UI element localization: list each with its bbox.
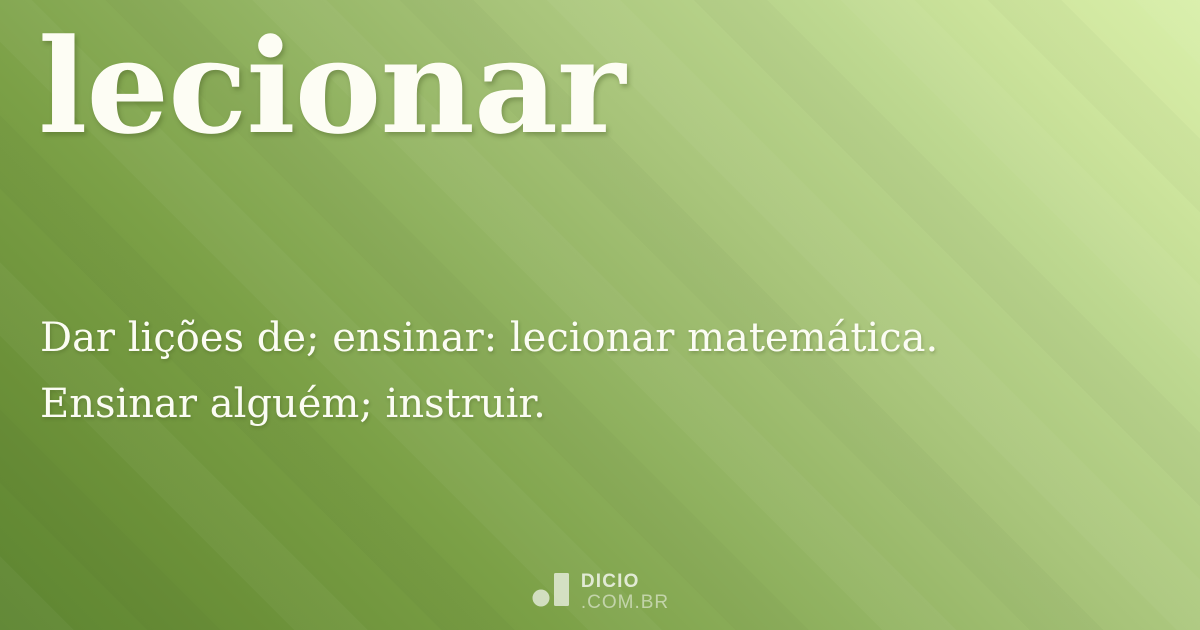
definition-list: Dar lições de; ensinar: lecionar matemát… [40,310,1150,442]
brand-name: DICIO [581,572,640,591]
card-content: lecionar Dar lições de; ensinar: leciona… [0,0,1200,630]
definition-item: Ensinar alguém; instruir. [40,376,1150,432]
page-title: lecionar [38,22,625,152]
dictionary-entry-card: lecionar Dar lições de; ensinar: leciona… [0,0,1200,630]
brand-wordmark: DICIO .COM.BR [581,572,669,612]
brand-domain: .COM.BR [581,593,669,612]
definition-item: Dar lições de; ensinar: lecionar matemát… [40,310,1150,366]
dicio-logo-mark-icon [531,571,571,612]
brand-watermark: DICIO .COM.BR [0,571,1200,612]
